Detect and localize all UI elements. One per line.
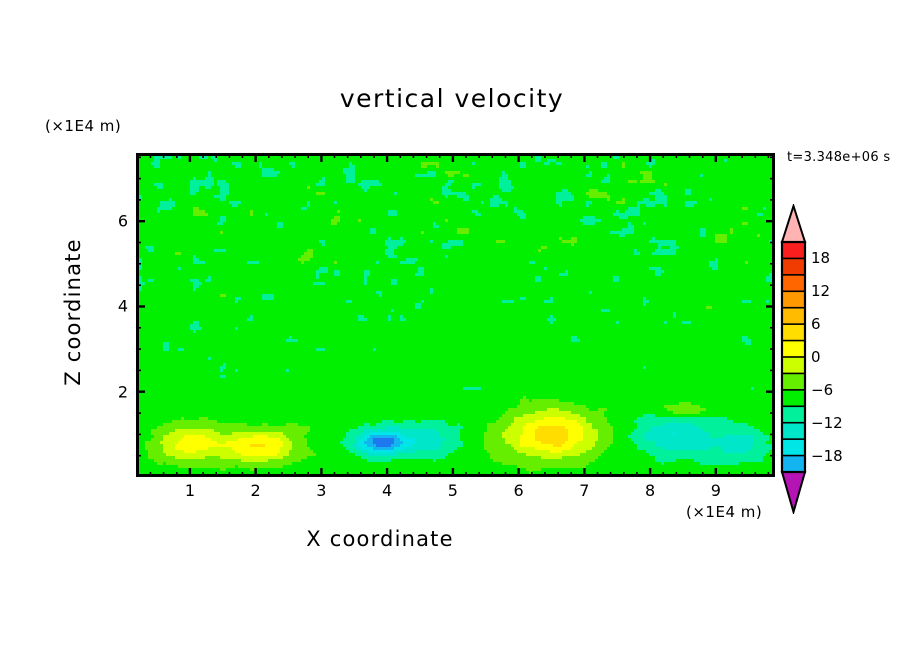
x-tick-label-7: 7 <box>579 481 589 500</box>
y-tick-label-6: 6 <box>110 212 128 231</box>
plot-area <box>136 153 775 477</box>
colorbar-label-6: 6 <box>811 315 821 333</box>
x-tick-label-6: 6 <box>514 481 524 500</box>
x-axis-units-label: (×1E4 m) <box>686 503 762 521</box>
y-axis-title: Z coordinate <box>61 212 85 412</box>
x-tick-label-9: 9 <box>711 481 721 500</box>
colorbar-label-18: 18 <box>811 249 830 267</box>
colorbar <box>779 204 809 514</box>
figure-canvas: vertical velocity (×1E4 m) t=3.348e+06 s… <box>0 0 904 654</box>
colorbar-swatches <box>779 204 809 514</box>
x-tick-label-5: 5 <box>448 481 458 500</box>
x-tick-label-4: 4 <box>382 481 392 500</box>
x-tick-label-3: 3 <box>316 481 326 500</box>
y-axis-units-label: (×1E4 m) <box>45 117 121 135</box>
x-axis-title: X coordinate <box>0 527 760 551</box>
y-tick-label-2: 2 <box>110 382 128 401</box>
colorbar-label-0: 0 <box>811 348 821 366</box>
x-tick-label-2: 2 <box>251 481 261 500</box>
timestamp-annotation: t=3.348e+06 s <box>787 150 890 165</box>
contour-field <box>136 153 775 477</box>
colorbar-label-12: 12 <box>811 282 830 300</box>
x-tick-label-1: 1 <box>185 481 195 500</box>
colorbar-label--6: −6 <box>811 381 833 399</box>
y-tick-label-4: 4 <box>110 297 128 316</box>
colorbar-label--18: −18 <box>811 447 843 465</box>
x-tick-label-8: 8 <box>645 481 655 500</box>
colorbar-label--12: −12 <box>811 414 843 432</box>
page-title: vertical velocity <box>0 84 904 113</box>
